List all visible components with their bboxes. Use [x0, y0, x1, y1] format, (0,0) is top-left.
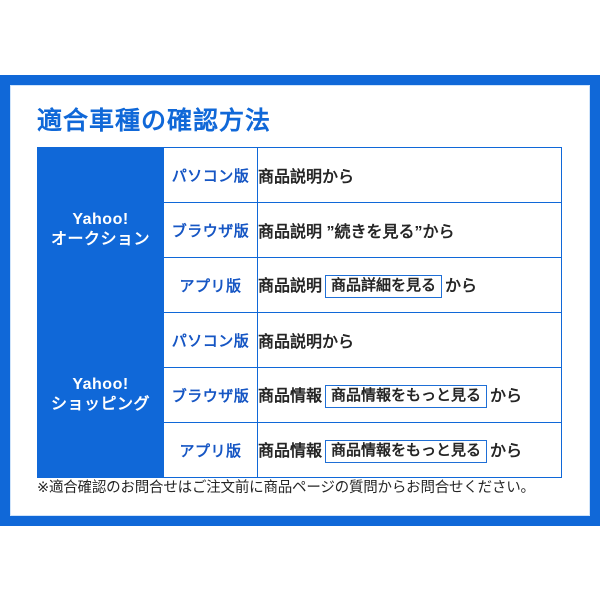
platform-label-browser: ブラウザ版 [164, 203, 258, 258]
desc-text-before: 商品説明から [258, 169, 354, 186]
description-cell: 商品情報商品情報をもっと見るから [258, 423, 562, 478]
desc-text-before: 商品情報 [258, 443, 322, 460]
desc-text-after: から [445, 278, 477, 295]
description-cell: 商品説明 ”続きを見る”から [258, 203, 562, 258]
compatibility-check-table: Yahoo! オークション パソコン版 商品説明から ブラウザ版 商品説明 ”続… [37, 147, 562, 478]
content-panel: 適合車種の確認方法 Yahoo! オークション パソコン版 商品説明から ブラウ… [10, 85, 590, 516]
footer-note: ※適合確認のお問合せはご注文前に商品ページの質問からお問合せください。 [37, 476, 535, 497]
description-cell: 商品情報商品情報をもっと見るから [258, 368, 562, 423]
description-cell: 商品説明から [258, 148, 562, 203]
table-row: Yahoo! オークション パソコン版 商品説明から [38, 148, 562, 203]
platform-label-browser: ブラウザ版 [164, 368, 258, 423]
boxed-button-label[interactable]: 商品詳細を見る [325, 275, 442, 299]
brand-cell-shopping: Yahoo! ショッピング [38, 313, 164, 478]
desc-text-before: 商品説明 [258, 278, 322, 295]
brand-line-1: Yahoo! [38, 210, 163, 230]
platform-label-app: アプリ版 [164, 423, 258, 478]
desc-text-before: 商品説明 ”続きを見る”から [258, 224, 454, 241]
desc-text-after: から [490, 388, 522, 405]
brand-line-2: オークション [38, 230, 163, 250]
description-cell: 商品説明から [258, 313, 562, 368]
desc-text-before: 商品情報 [258, 388, 322, 405]
boxed-button-label[interactable]: 商品情報をもっと見る [325, 385, 487, 409]
desc-text-after: から [490, 443, 522, 460]
platform-label-pc: パソコン版 [164, 313, 258, 368]
platform-label-app: アプリ版 [164, 258, 258, 313]
description-cell: 商品説明商品詳細を見るから [258, 258, 562, 313]
page-title: 適合車種の確認方法 [37, 101, 271, 137]
platform-label-pc: パソコン版 [164, 148, 258, 203]
table-row: Yahoo! ショッピング パソコン版 商品説明から [38, 313, 562, 368]
boxed-button-label[interactable]: 商品情報をもっと見る [325, 440, 487, 464]
brand-line-1: Yahoo! [38, 375, 163, 395]
outer-blue-frame: 適合車種の確認方法 Yahoo! オークション パソコン版 商品説明から ブラウ… [0, 75, 600, 526]
brand-line-2: ショッピング [38, 395, 163, 415]
brand-cell-auction: Yahoo! オークション [38, 148, 164, 313]
desc-text-before: 商品説明から [258, 334, 354, 351]
